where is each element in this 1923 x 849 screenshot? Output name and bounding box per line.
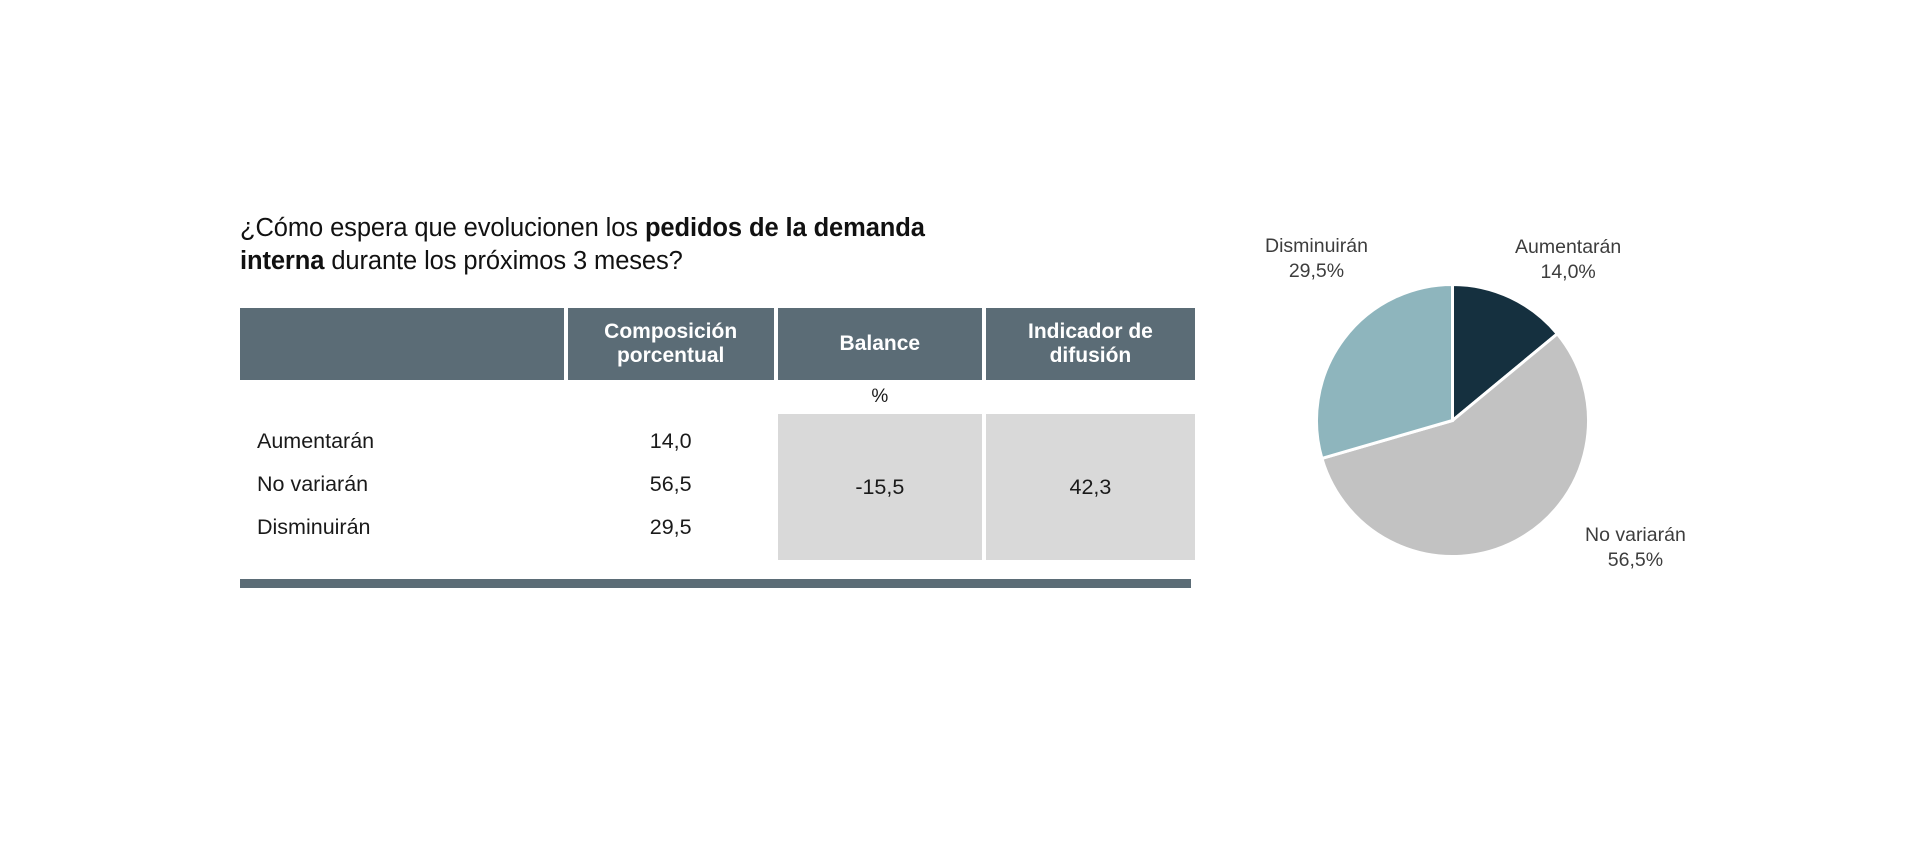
balance-value-box: -15,5	[778, 414, 982, 560]
table-row: Disminuirán	[240, 506, 564, 549]
table-units-row: %	[240, 380, 1195, 414]
question-prefix: ¿Cómo espera que evolucionen los	[240, 214, 645, 242]
results-table: Composición porcentual Balance Indicador…	[240, 308, 1195, 588]
pie-label-novariaran: No variarán 56,5%	[1585, 523, 1686, 573]
pie-label-novariaran-name: No variarán	[1585, 524, 1686, 546]
column-balance-value: -15,5	[778, 414, 982, 560]
column-header-blank	[240, 308, 564, 380]
units-percent-sign: %	[778, 386, 982, 408]
pie-chart	[1315, 283, 1590, 558]
composition-value: 14,0	[568, 420, 774, 463]
pie-chart-panel: Aumentarán 14,0% Disminuirán 29,5% No va…	[1285, 240, 1845, 640]
column-composition-values: 14,0 56,5 29,5	[568, 414, 774, 560]
page-title: ¿Cómo espera que evolucionen los pedidos…	[240, 212, 965, 278]
table-body: Aumentarán No variarán Disminuirán 14,0 …	[240, 414, 1195, 560]
composition-value: 29,5	[568, 506, 774, 549]
column-header-diffusion: Indicador de difusión	[986, 308, 1195, 380]
column-header-balance: Balance	[778, 308, 982, 380]
pie-slices	[1317, 285, 1589, 557]
pie-label-aumentaran: Aumentarán 14,0%	[1515, 235, 1621, 285]
question-suffix: durante los próximos 3 meses?	[324, 247, 682, 275]
pie-label-aumentaran-name: Aumentarán	[1515, 236, 1621, 258]
pie-label-novariaran-value: 56,5%	[1608, 549, 1663, 571]
table-row: Aumentarán	[240, 420, 564, 463]
diffusion-value-box: 42,3	[986, 414, 1195, 560]
pie-label-disminuiran-value: 29,5%	[1289, 260, 1344, 282]
table-row: No variarán	[240, 463, 564, 506]
question-table-panel: ¿Cómo espera que evolucionen los pedidos…	[240, 212, 1195, 588]
table-header-row: Composición porcentual Balance Indicador…	[240, 308, 1195, 380]
table-bottom-rule	[240, 579, 1191, 588]
column-diffusion-value: 42,3	[986, 414, 1195, 560]
composition-value: 56,5	[568, 463, 774, 506]
pie-label-disminuiran-name: Disminuirán	[1265, 235, 1368, 257]
pie-label-aumentaran-value: 14,0%	[1540, 261, 1595, 283]
pie-label-disminuiran: Disminuirán 29,5%	[1265, 234, 1368, 284]
column-row-labels: Aumentarán No variarán Disminuirán	[240, 414, 564, 560]
column-header-composition: Composición porcentual	[568, 308, 774, 380]
